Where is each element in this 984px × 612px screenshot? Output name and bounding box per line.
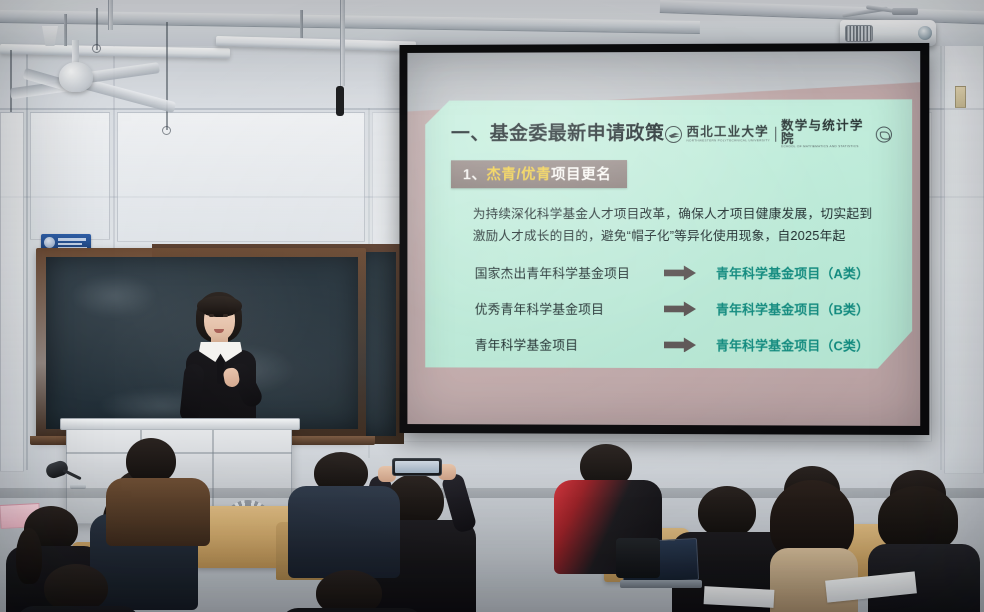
wall-panel: [30, 112, 110, 240]
wire-hook: [162, 126, 171, 135]
conduit-clip: [336, 86, 344, 116]
subheading-highlight: 杰青/优青: [486, 167, 551, 183]
fan-pole: [72, 40, 79, 64]
slide-subheading-banner: 1、杰青/优青项目更名: [451, 160, 627, 188]
school-badge-icon: [876, 126, 892, 142]
arrow-right-icon: [664, 265, 716, 280]
chalk-smudge: [70, 274, 158, 318]
wall-seam: [940, 40, 942, 470]
mapping-target-label: 青年科学基金项目（B类）: [716, 300, 869, 319]
school-name-cn: 数学与统计学院: [781, 120, 871, 145]
person-head: [44, 564, 108, 612]
school-name-block: 数学与统计学院 SCHOOL OF MATHEMATICS AND STATIS…: [781, 120, 871, 149]
ceiling-fan: [18, 58, 168, 114]
logo-text-group: 西北工业大学 NORTHWESTERN POLYTECHNICAL UNIVER…: [687, 119, 892, 149]
person-torso: [106, 478, 210, 546]
projector-lens: [918, 26, 932, 40]
subheading-number: 1、: [463, 167, 487, 183]
slide-header: 一、基金委最新申请政策 西北工业大学 NORTHWESTERN POLYTECH…: [451, 117, 892, 149]
university-name-en: NORTHWESTERN POLYTECHNICAL UNIVERSITY: [687, 139, 770, 143]
wall-panel: [944, 44, 984, 474]
mapping-target-label: 青年科学基金项目（C类）: [716, 336, 869, 355]
university-name-cn: 西北工业大学: [687, 126, 770, 139]
person-torso: [280, 608, 424, 612]
person-head: [316, 570, 382, 612]
school-name-en: SCHOOL OF MATHEMATICS AND STATISTICS: [781, 145, 871, 149]
university-emblem-icon: [665, 126, 682, 143]
fan-motor-housing: [59, 62, 93, 92]
renaming-mapping-list: 国家杰出青年科学基金项目 青年科学基金项目（A类） 优秀青年科学基金项目: [475, 263, 892, 355]
arrow-right-icon: [664, 337, 716, 352]
slide-paragraph: 为持续深化科学基金人才项目改革，确保人才项目健康发展，切实起到 激励人才成长的目…: [473, 203, 892, 248]
cable-conduit: [108, 0, 113, 30]
audience-area: [0, 430, 984, 612]
laptop-base: [620, 580, 702, 588]
slide-title: 一、基金委最新申请政策: [451, 118, 665, 145]
arrow-right-icon: [664, 301, 716, 316]
bag: [616, 538, 660, 578]
paragraph-line: 为持续深化科学基金人才项目改革，确保人才项目健康发展，切实起到: [473, 203, 892, 225]
wire-hook: [92, 44, 101, 53]
ceiling-projector: [840, 8, 948, 48]
university-name-block: 西北工业大学 NORTHWESTERN POLYTECHNICAL UNIVER…: [687, 126, 770, 143]
hanging-wire: [10, 50, 12, 112]
cable-conduit: [340, 0, 345, 86]
projector-mount-plate: [892, 8, 918, 15]
presenter-tie: [217, 358, 224, 384]
paragraph-line: 激励人才成长的目的，避免“帽子化”等异化使用现象，自2025年起: [473, 225, 892, 247]
presenter-eye: [209, 314, 214, 317]
presenter-eye: [223, 314, 228, 317]
person-hair: [16, 528, 42, 584]
mapping-row: 国家杰出青年科学基金项目 青年科学基金项目（A类）: [475, 263, 892, 282]
mapping-source-label: 优秀青年科学基金项目: [475, 299, 664, 318]
person-hair: [878, 486, 958, 552]
projection-surface: 一、基金委最新申请政策 西北工业大学 NORTHWESTERN POLYTECH…: [407, 51, 920, 426]
paper-sheet: [704, 586, 775, 608]
mapping-row: 青年科学基金项目 青年科学基金项目（C类）: [475, 335, 892, 355]
lecture-hall-photo: 一、基金委最新申请政策 西北工业大学 NORTHWESTERN POLYTECH…: [0, 0, 984, 612]
presenter-fringe: [197, 296, 242, 315]
lectern-top-surface: [60, 418, 300, 430]
person-torso: [288, 486, 400, 578]
light-rod: [64, 14, 67, 46]
wall-speaker: [955, 86, 966, 108]
emblem-icon: [44, 237, 55, 248]
logo-divider: [775, 127, 776, 142]
subheading-rest: 项目更名: [551, 167, 611, 183]
projection-screen[interactable]: 一、基金委最新申请政策 西北工业大学 NORTHWESTERN POLYTECH…: [399, 43, 929, 435]
person-head: [698, 486, 756, 538]
mapping-target-label: 青年科学基金项目（A类）: [716, 263, 869, 282]
smartphone-camera[interactable]: [392, 458, 442, 476]
phone-screen: [395, 461, 439, 473]
slide-content-sheet: 一、基金委最新申请政策 西北工业大学 NORTHWESTERN POLYTECH…: [425, 99, 912, 368]
projector-vent: [845, 25, 873, 42]
wall-panel: [117, 112, 365, 242]
light-rod: [300, 10, 303, 38]
wall-panel: [0, 112, 24, 472]
institution-logo: 西北工业大学 NORTHWESTERN POLYTECHNICAL UNIVER…: [665, 119, 892, 149]
person-torso: [16, 606, 140, 612]
mapping-source-label: 国家杰出青年科学基金项目: [475, 263, 664, 282]
mapping-source-label: 青年科学基金项目: [475, 335, 664, 354]
mapping-row: 优秀青年科学基金项目 青年科学基金项目（B类）: [475, 299, 892, 319]
fan-blade: [83, 78, 177, 113]
